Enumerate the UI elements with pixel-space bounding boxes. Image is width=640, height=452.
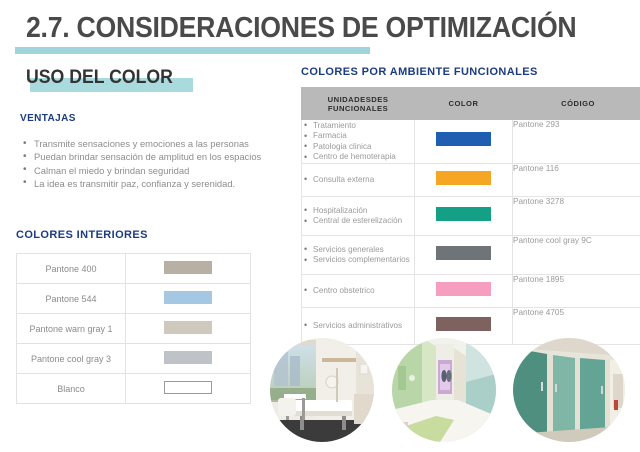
unidades-list: Servicios generalesServicios complementa…: [302, 245, 414, 266]
unidad-list-item: Central de esterelización: [313, 216, 414, 227]
color-swatch-cell: [126, 344, 251, 374]
section-uso-del-color: USO DEL COLOR: [26, 65, 184, 95]
column-header-unidades: UNIDADESDES FUNCIONALES: [302, 88, 415, 120]
unidades-list: Consulta externa: [302, 175, 414, 186]
codigo-cell: Pantone 3278: [513, 197, 640, 236]
unidades-funcionales-cell: TratamientoFarmaciaPatologia clinicaCent…: [302, 120, 415, 164]
unidades-list: Servicios administrativos: [302, 321, 414, 332]
color-name-cell: Pantone 544: [17, 284, 126, 314]
color-swatch: [436, 171, 491, 185]
title-underline-rule: [15, 47, 370, 54]
unidad-list-item: Consulta externa: [313, 175, 414, 186]
color-name-cell: Blanco: [17, 374, 126, 404]
unidades-list: Centro obstetrico: [302, 286, 414, 297]
green-partition-wall-photo: [513, 338, 625, 442]
table-row: HospitalizaciónCentral de esterelización…: [302, 197, 640, 236]
color-swatch-cell: [415, 197, 513, 236]
unidad-list-item: Farmacia: [313, 131, 414, 142]
colores-interiores-heading: COLORES INTERIORES: [16, 229, 148, 241]
color-swatch-cell: [415, 120, 513, 164]
unidad-list-item: Servicios complementarios: [313, 255, 414, 266]
unidades-funcionales-cell: HospitalizaciónCentral de esterelización: [302, 197, 415, 236]
codigo-cell: Pantone 1895: [513, 275, 640, 308]
ventajas-list-item: Transmite sensaciones y emociones a las …: [34, 138, 282, 151]
table-row: Centro obstetricoPantone 1895: [302, 275, 640, 308]
color-swatch-cell: [415, 275, 513, 308]
color-swatch-cell: [415, 236, 513, 275]
table-row: Pantone 544: [17, 284, 251, 314]
table-row: Servicios administrativosPantone 4705: [302, 308, 640, 345]
table-row: TratamientoFarmaciaPatologia clinicaCent…: [302, 120, 640, 164]
color-swatch-cell: [126, 254, 251, 284]
color-swatch: [164, 291, 212, 304]
unidades-funcionales-cell: Consulta externa: [302, 164, 415, 197]
color-swatch-cell: [126, 284, 251, 314]
color-swatch: [164, 381, 212, 394]
unidad-list-item: Patologia clinica: [313, 142, 414, 153]
column-header-codigo: CÓDIGO: [513, 88, 640, 120]
table-row: Pantone warn gray 1: [17, 314, 251, 344]
unidad-list-item: Centro obstetrico: [313, 286, 414, 297]
table-row: Blanco: [17, 374, 251, 404]
codigo-cell: Pantone 116: [513, 164, 640, 197]
colores-ambiente-heading: COLORES POR AMBIENTE FUNCIONALES: [301, 66, 538, 78]
unidad-list-item: Tratamiento: [313, 121, 414, 132]
color-swatch: [436, 282, 491, 296]
color-swatch: [164, 261, 212, 274]
color-swatch-cell: [126, 374, 251, 404]
ventajas-list-item: La idea es transmitir paz, confianza y s…: [34, 178, 282, 191]
table-header-row: UNIDADESDES FUNCIONALES COLOR CÓDIGO: [302, 88, 640, 120]
table-row: Servicios generalesServicios complementa…: [302, 236, 640, 275]
codigo-cell: Pantone cool gray 9C: [513, 236, 640, 275]
color-name-cell: Pantone cool gray 3: [17, 344, 126, 374]
unidad-list-item: Servicios generales: [313, 245, 414, 256]
color-swatch-cell: [415, 164, 513, 197]
table-row: Pantone cool gray 3: [17, 344, 251, 374]
color-name-cell: Pantone warn gray 1: [17, 314, 126, 344]
column-header-unidades-line2: FUNCIONALES: [328, 104, 388, 113]
unidad-list-item: Centro de hemoterapia: [313, 152, 414, 163]
colores-interiores-table: Pantone 400Pantone 544Pantone warn gray …: [16, 253, 251, 404]
ventajas-list-item: Puedan brindar sensación de amplitud en …: [34, 151, 282, 164]
color-swatch: [164, 351, 212, 364]
unidades-list: TratamientoFarmaciaPatologia clinicaCent…: [302, 121, 414, 163]
color-name-cell: Pantone 400: [17, 254, 126, 284]
ventajas-list: Transmite sensaciones y emociones a las …: [16, 138, 282, 191]
color-swatch: [436, 317, 491, 331]
unidad-list-item: Servicios administrativos: [313, 321, 414, 332]
unidades-funcionales-cell: Servicios generalesServicios complementa…: [302, 236, 415, 275]
color-swatch-cell: [126, 314, 251, 344]
ventajas-list-item: Calman el miedo y brindan seguridad: [34, 165, 282, 178]
column-header-unidades-line1: UNIDADESDES: [328, 95, 389, 104]
unidad-list-item: Hospitalización: [313, 206, 414, 217]
colores-ambiente-table: UNIDADESDES FUNCIONALES COLOR CÓDIGO Tra…: [301, 87, 640, 345]
uso-del-color-label: USO DEL COLOR: [26, 65, 173, 91]
unidades-list: HospitalizaciónCentral de esterelización: [302, 206, 414, 227]
hospital-room-photo: [270, 338, 374, 442]
color-swatch: [436, 132, 491, 146]
color-swatch: [164, 321, 212, 334]
table-row: Pantone 400: [17, 254, 251, 284]
column-header-color: COLOR: [415, 88, 513, 120]
slide-root: 2.7. CONSIDERACIONES DE OPTIMIZACIÓN USO…: [0, 0, 640, 452]
table-row: Consulta externaPantone 116: [302, 164, 640, 197]
ventajas-heading: VENTAJAS: [20, 113, 76, 124]
unidades-funcionales-cell: Centro obstetrico: [302, 275, 415, 308]
hospital-corridor-photo: [392, 338, 496, 442]
page-title: 2.7. CONSIDERACIONES DE OPTIMIZACIÓN: [26, 12, 576, 45]
codigo-cell: Pantone 293: [513, 120, 640, 164]
color-swatch: [436, 246, 491, 260]
color-swatch: [436, 207, 491, 221]
